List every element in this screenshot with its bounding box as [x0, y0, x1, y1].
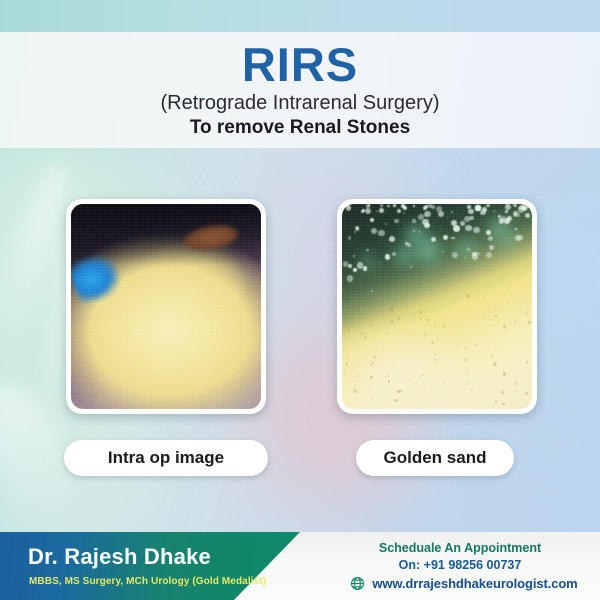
website-url[interactable]: www.drrajeshdhakeurologist.com — [372, 576, 577, 591]
golden-sand-stone-fragments-photo — [342, 204, 532, 409]
doctor-credentials: MBBS, MS Surgery, MCh Urology (Gold Meda… — [29, 576, 266, 587]
appointment-block: Scheduale An Appointment On: +91 98256 0… — [330, 540, 590, 574]
photo-card-intra-op — [66, 199, 266, 414]
title-tagline: To remove Renal Stones — [190, 118, 410, 139]
appointment-phone[interactable]: On: +91 98256 00737 — [330, 557, 590, 574]
photo-scanline-grain — [71, 204, 261, 409]
rirs-promotional-poster: RIRS (Retrograde Intrarenal Surgery) To … — [0, 0, 600, 600]
caption-intra-op: Intra op image — [64, 440, 268, 476]
page-title: RIRS — [242, 41, 358, 88]
top-strip — [0, 0, 600, 32]
title-expansion: (Retrograde Intrarenal Surgery) — [160, 92, 439, 114]
doctor-name: Dr. Rajesh Dhake — [28, 544, 211, 570]
photo-card-golden-sand — [337, 199, 537, 414]
globe-icon — [350, 576, 365, 591]
photo-scanline-grain — [342, 204, 532, 409]
footer-bar: Dr. Rajesh Dhake MBBS, MS Surgery, MCh U… — [0, 532, 600, 600]
caption-golden-sand: Golden sand — [356, 440, 514, 476]
website-row[interactable]: www.drrajeshdhakeurologist.com — [338, 576, 590, 591]
intra-operative-endoscopic-photo — [71, 204, 261, 409]
title-band: RIRS (Retrograde Intrarenal Surgery) To … — [0, 32, 600, 148]
appointment-heading: Scheduale An Appointment — [330, 540, 590, 557]
